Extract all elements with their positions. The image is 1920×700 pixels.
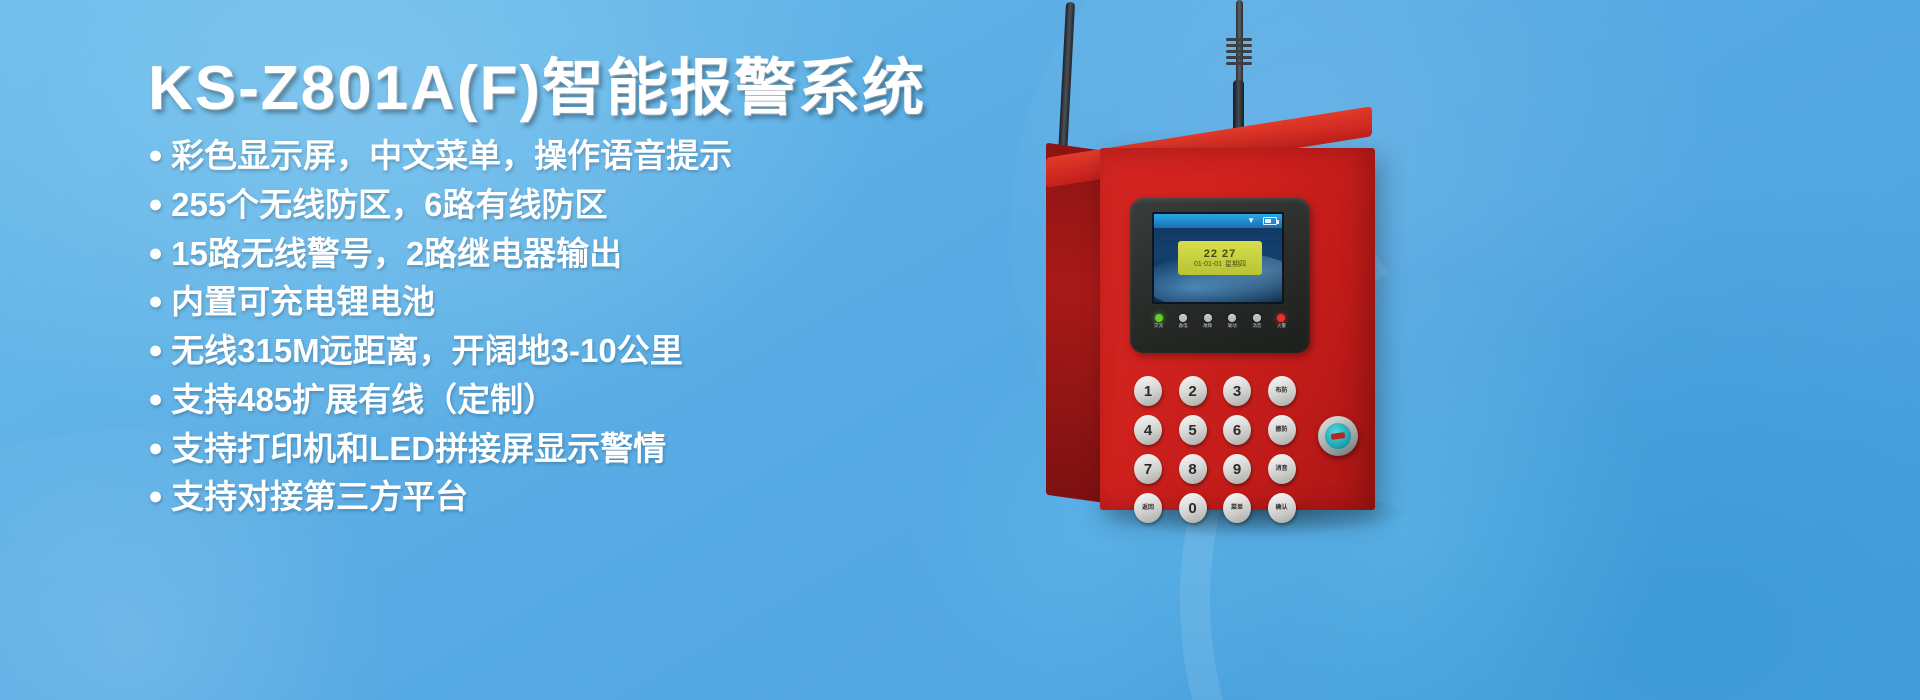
bullet-icon: ● (148, 432, 163, 466)
status-led-cell: 故障 (1203, 314, 1212, 329)
keypad-key-0[interactable]: 0 (1179, 493, 1207, 523)
feature-label: 内置可充电锂电池 (171, 285, 435, 318)
status-led-indicator (1179, 314, 1187, 322)
enclosure-front: ▼ 22 27 01-01-01 星期四 交流备电故障联动消音火警 123布防4… (1100, 148, 1375, 510)
lcd-date: 01-01-01 (1194, 261, 1222, 268)
key-lock-slot (1331, 432, 1346, 440)
status-led-indicator (1277, 314, 1285, 322)
keypad-key-确认[interactable]: 确认 (1268, 493, 1296, 523)
keypad-key-8[interactable]: 8 (1179, 454, 1207, 484)
status-led-cell: 消音 (1252, 314, 1261, 329)
status-led-label: 备电 (1179, 324, 1188, 329)
feature-item: ●15路无线警号，2路继电器输出 (148, 237, 978, 271)
bullet-icon: ● (148, 188, 163, 222)
product-image: ▼ 22 27 01-01-01 星期四 交流备电故障联动消音火警 123布防4… (940, 0, 1920, 700)
feature-item: ●无线315M远距离，开阔地3-10公里 (148, 334, 978, 368)
keypad-key-9[interactable]: 9 (1223, 454, 1251, 484)
feature-label: 255个无线防区，6路有线防区 (171, 188, 607, 221)
status-led-label: 联动 (1228, 324, 1237, 329)
status-led-label: 消音 (1252, 324, 1261, 329)
antenna-coil-icon (1226, 38, 1252, 72)
bullet-icon: ● (148, 139, 163, 173)
status-led-indicator (1228, 314, 1236, 322)
status-led-indicator (1155, 314, 1163, 322)
status-led-cell: 交流 (1154, 314, 1163, 329)
enclosure-side (1046, 143, 1108, 504)
feature-item: ●支持485扩展有线（定制） (148, 383, 978, 417)
product-banner: KS-Z801A(F)智能报警系统 ●彩色显示屏，中文菜单，操作语音提示●255… (0, 0, 1920, 700)
lcd-info-box: 22 27 01-01-01 星期四 (1178, 241, 1262, 275)
antenna-left-icon (1058, 2, 1075, 157)
feature-item: ●彩色显示屏，中文菜单，操作语音提示 (148, 139, 978, 173)
status-led-label: 火警 (1277, 324, 1286, 329)
bullet-icon: ● (148, 237, 163, 271)
wifi-icon: ▼ (1247, 217, 1255, 225)
feature-item: ●内置可充电锂电池 (148, 285, 978, 319)
feature-item: ●支持对接第三方平台 (148, 480, 978, 514)
status-led-cell: 联动 (1228, 314, 1237, 329)
key-lock-core (1325, 423, 1351, 449)
status-led-row: 交流备电故障联动消音火警 (1154, 314, 1286, 329)
status-led-label: 故障 (1203, 324, 1212, 329)
feature-list: ●彩色显示屏，中文菜单，操作语音提示●255个无线防区，6路有线防区●15路无线… (148, 139, 978, 514)
feature-label: 支持485扩展有线（定制） (171, 383, 556, 416)
lcd-weekday: 星期四 (1225, 261, 1246, 268)
lcd-clock: 22 27 (1204, 249, 1237, 260)
lcd-date-row: 01-01-01 星期四 (1194, 261, 1246, 268)
status-led-label: 交流 (1154, 324, 1163, 329)
feature-label: 支持对接第三方平台 (171, 480, 468, 513)
keypad-key-消音[interactable]: 消音 (1268, 454, 1296, 484)
feature-label: 彩色显示屏，中文菜单，操作语音提示 (171, 139, 732, 172)
lcd-screen[interactable]: ▼ 22 27 01-01-01 星期四 (1152, 212, 1284, 304)
feature-label: 15路无线警号，2路继电器输出 (171, 237, 622, 270)
keypad-key-3[interactable]: 3 (1223, 376, 1251, 406)
status-led-indicator (1253, 314, 1261, 322)
bullet-icon: ● (148, 480, 163, 514)
keypad-key-布防[interactable]: 布防 (1268, 376, 1296, 406)
bullet-icon: ● (148, 285, 163, 319)
status-led-cell: 备电 (1179, 314, 1188, 329)
keypad-key-2[interactable]: 2 (1179, 376, 1207, 406)
keypad-key-4[interactable]: 4 (1134, 415, 1162, 445)
status-led-indicator (1204, 314, 1212, 322)
key-lock-icon[interactable] (1318, 416, 1358, 456)
display-bezel: ▼ 22 27 01-01-01 星期四 交流备电故障联动消音火警 (1130, 198, 1310, 353)
status-led-cell: 火警 (1277, 314, 1286, 329)
keypad-key-7[interactable]: 7 (1134, 454, 1162, 484)
keypad[interactable]: 123布防456撤防789消音返回0菜单确认 (1134, 376, 1302, 523)
keypad-key-5[interactable]: 5 (1179, 415, 1207, 445)
keypad-key-撤防[interactable]: 撤防 (1268, 415, 1296, 445)
feature-item: ●支持打印机和LED拼接屏显示警情 (148, 432, 978, 466)
keypad-key-菜单[interactable]: 菜单 (1223, 493, 1251, 523)
keypad-key-6[interactable]: 6 (1223, 415, 1251, 445)
bullet-icon: ● (148, 383, 163, 417)
battery-icon (1263, 217, 1277, 225)
bullet-icon: ● (148, 334, 163, 368)
feature-label: 支持打印机和LED拼接屏显示警情 (171, 432, 666, 465)
feature-item: ●255个无线防区，6路有线防区 (148, 188, 978, 222)
banner-copy: KS-Z801A(F)智能报警系统 ●彩色显示屏，中文菜单，操作语音提示●255… (148, 52, 978, 529)
lcd-status-bar: ▼ (1154, 214, 1282, 228)
keypad-key-返回[interactable]: 返回 (1134, 493, 1162, 523)
keypad-key-1[interactable]: 1 (1134, 376, 1162, 406)
page-title: KS-Z801A(F)智能报警系统 (148, 52, 978, 125)
feature-label: 无线315M远距离，开阔地3-10公里 (171, 334, 683, 367)
